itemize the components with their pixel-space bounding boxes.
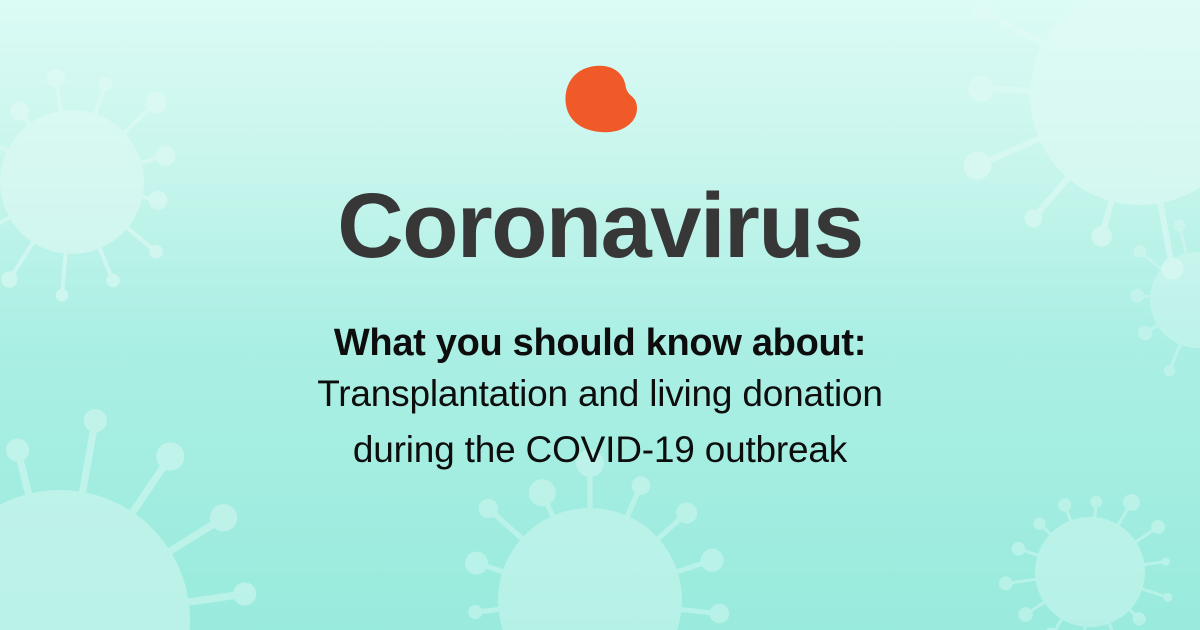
subtitle-block: What you should know about: Transplantat… <box>317 320 883 477</box>
logo-container <box>563 60 637 138</box>
page-title: Coronavirus <box>337 180 862 272</box>
coronavirus-info-poster: Coronavirus What you should know about: … <box>0 0 1200 630</box>
kidney-logo-path <box>566 66 638 132</box>
kidney-logo-icon <box>563 65 637 133</box>
subtitle-line-2: during the COVID-19 outbreak <box>317 422 883 478</box>
poster-content: Coronavirus What you should know about: … <box>0 0 1200 630</box>
subtitle-line-1: Transplantation and living donation <box>317 366 883 422</box>
subtitle-kicker: What you should know about: <box>317 320 883 366</box>
